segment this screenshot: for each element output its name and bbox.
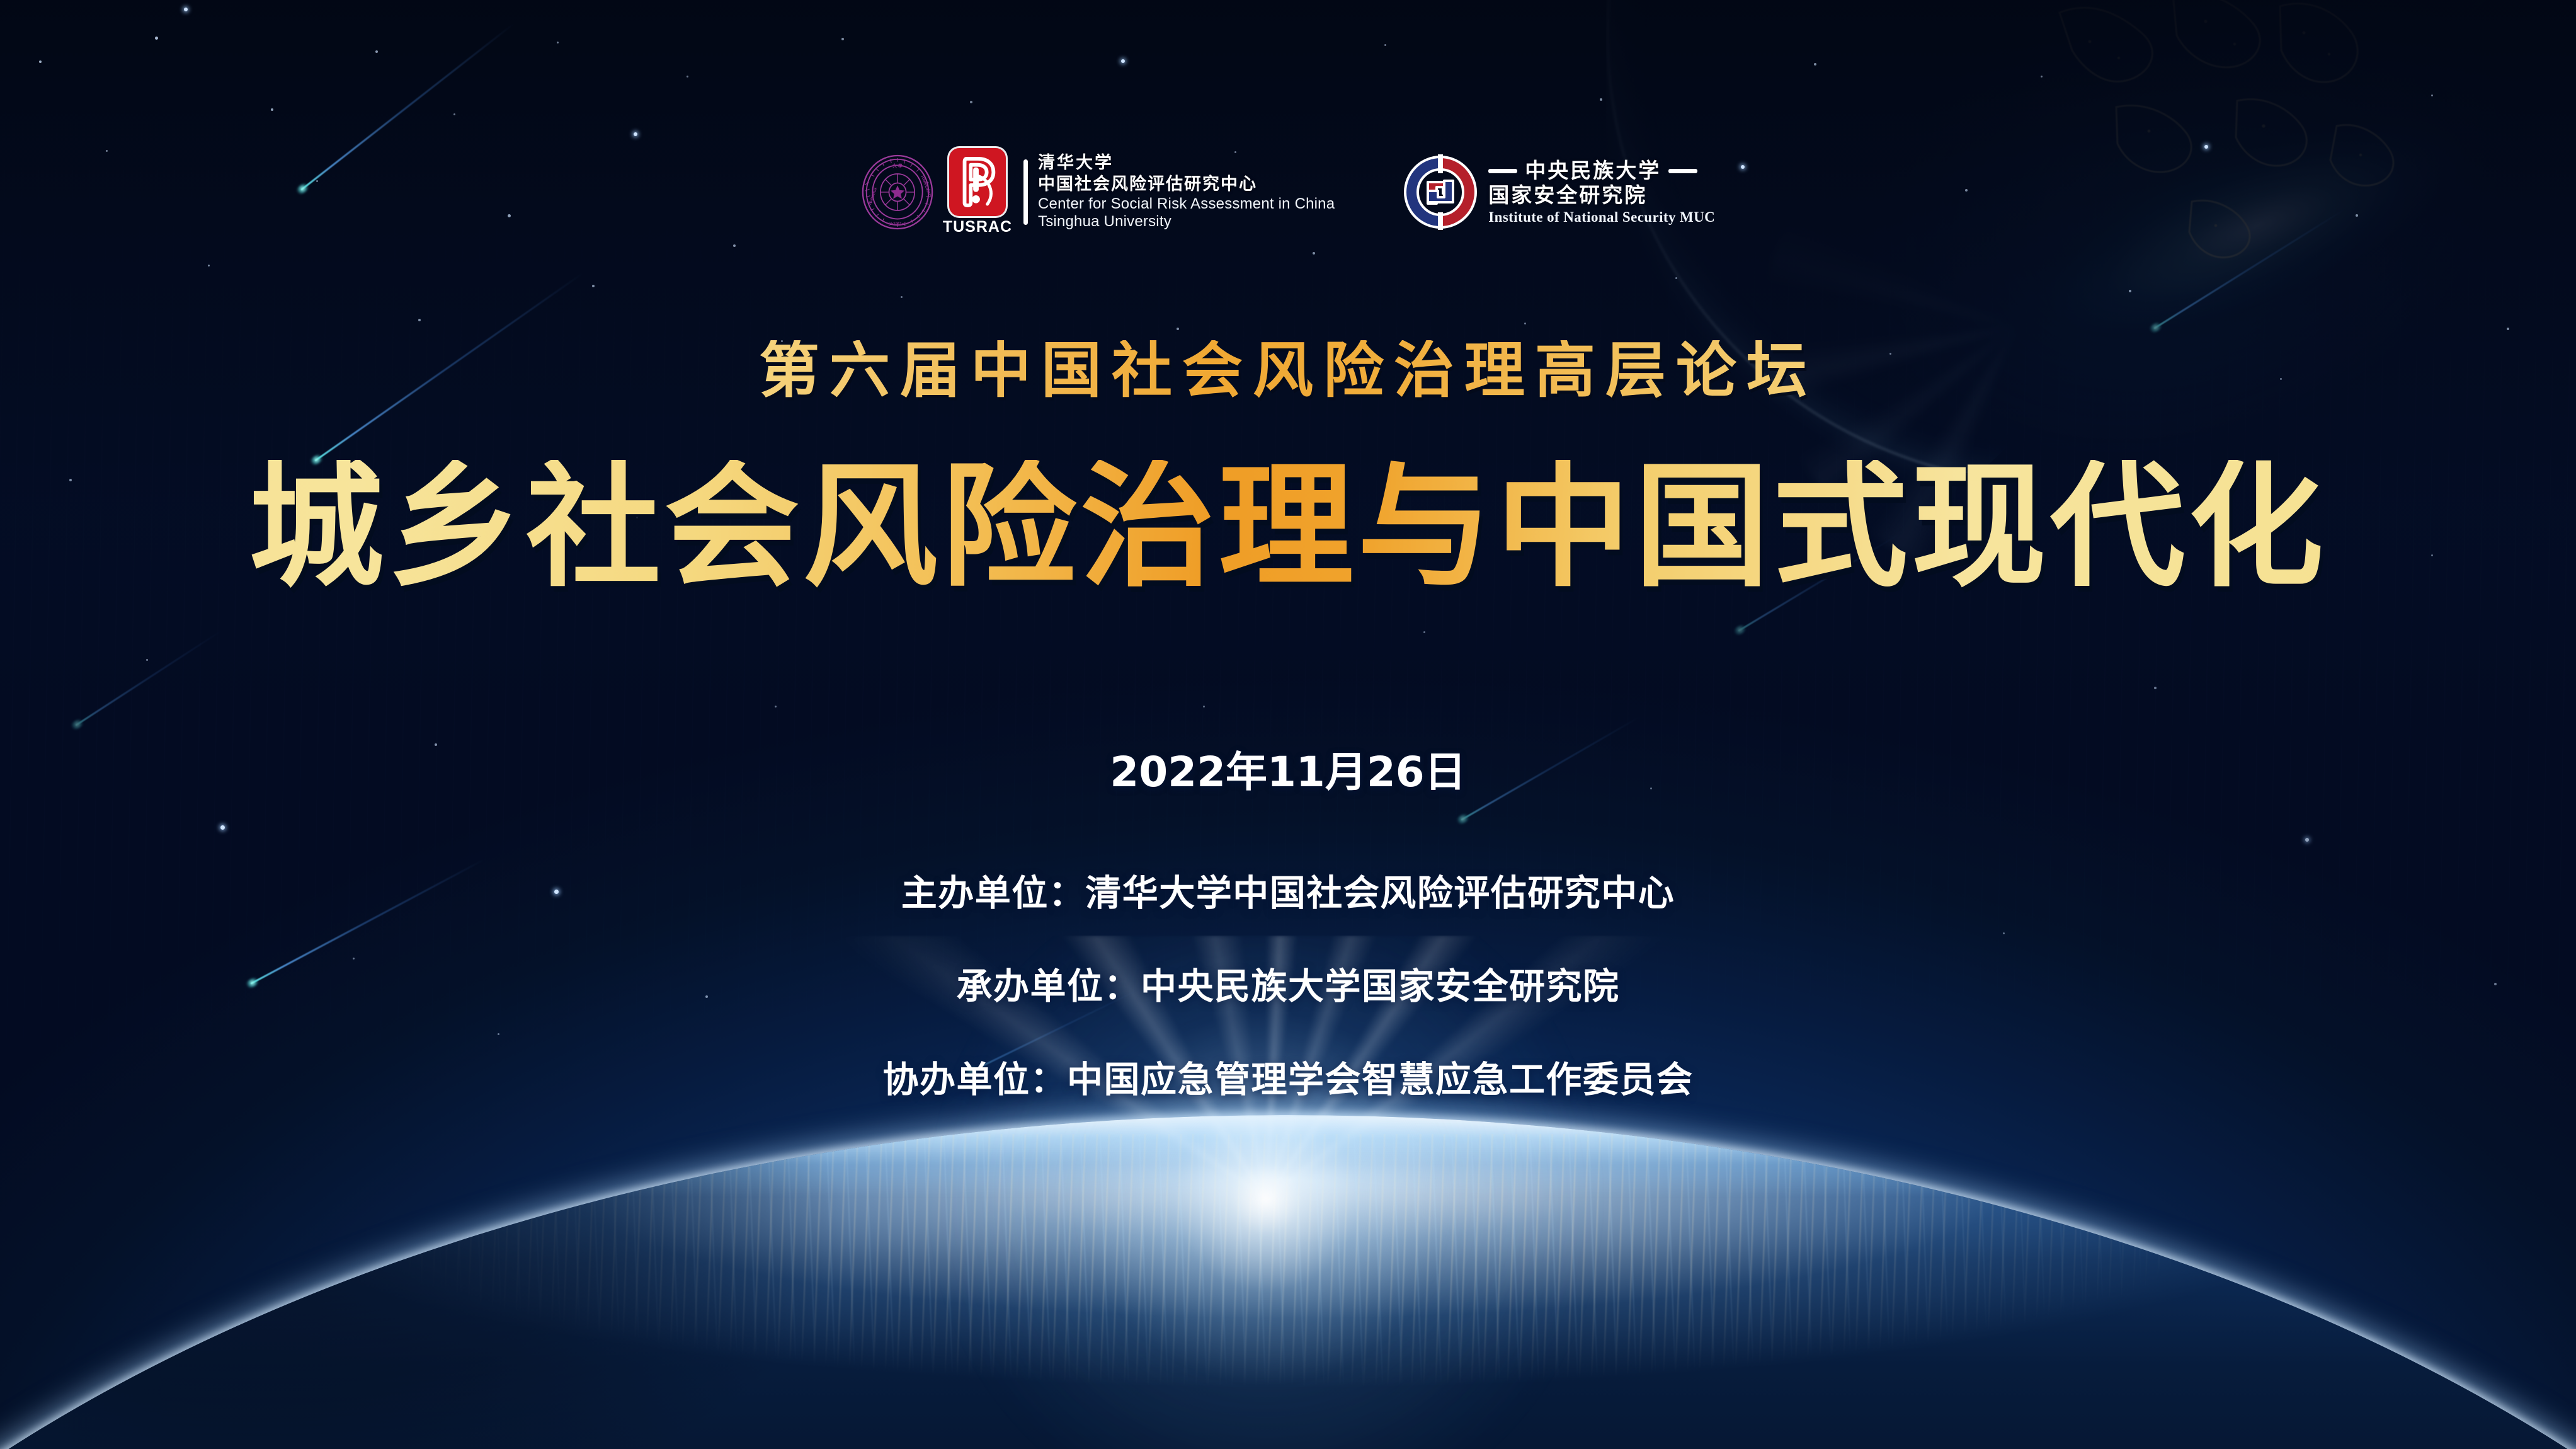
- tusrac-wordmark: TUSRAC: [943, 218, 1012, 236]
- muc-institute-emblem-icon: [1403, 154, 1478, 230]
- center-cn-line-2: 中国社会风险评估研究中心: [1038, 173, 1335, 195]
- muc-cn-line-1: 中央民族大学: [1525, 159, 1661, 183]
- conference-banner: · 大 學 · [ ~1911~ ] TSINGHUA UNIVERSITY: [0, 0, 2576, 1449]
- organizer-name: 中国应急管理学会智慧应急工作委员会: [1067, 1059, 1694, 1101]
- center-name-block: 清华大学 中国社会风险评估研究中心 Center for Social Risk…: [1038, 153, 1335, 231]
- organizer-role: 主办单位：: [901, 873, 1086, 914]
- organizer-role: 承办单位：: [957, 966, 1141, 1007]
- muc-logo-group: 中央民族大学 国家安全研究院 Institute of National Sec…: [1403, 154, 1715, 230]
- event-date: 2022年11月26日: [0, 738, 2576, 799]
- page-title: 城乡社会风险治理与中国式现代化: [0, 460, 2576, 595]
- center-en-line-1: Center for Social Risk Assessment in Chi…: [1038, 195, 1335, 213]
- organizer-list: 主办单位：清华大学中国社会风险评估研究中心 承办单位：中央民族大学国家安全研究院…: [0, 864, 2576, 1102]
- logo-bar: · 大 學 · [ ~1911~ ] TSINGHUA UNIVERSITY: [0, 135, 2576, 249]
- organizer-row: 承办单位：中央民族大学国家安全研究院: [957, 958, 1620, 1009]
- tsinghua-logo-group: · 大 學 · [ ~1911~ ] TSINGHUA UNIVERSITY: [861, 148, 1335, 236]
- svg-text:[ ~1911~ ]: [ ~1911~ ]: [889, 222, 906, 226]
- svg-text:· 大 學 ·: · 大 學 ·: [890, 163, 905, 168]
- organizer-row: 协办单位：中国应急管理学会智慧应急工作委员会: [883, 1051, 1694, 1102]
- forum-subtitle: 第六届中国社会风险治理高层论坛: [0, 340, 2576, 401]
- muc-cn-row-1: 中央民族大学: [1488, 159, 1715, 183]
- muc-cn-line-2: 国家安全研究院: [1488, 183, 1715, 208]
- dash-right-icon: [1668, 169, 1697, 173]
- tsinghua-university-seal-icon: · 大 學 · [ ~1911~ ] TSINGHUA UNIVERSITY: [861, 154, 934, 230]
- organizer-row: 主办单位：清华大学中国社会风险评估研究中心: [901, 864, 1675, 916]
- logo-divider: [1023, 159, 1028, 225]
- muc-en-line: Institute of National Security MUC: [1488, 209, 1715, 226]
- organizer-name: 中央民族大学国家安全研究院: [1141, 966, 1620, 1007]
- dash-left-icon: [1488, 169, 1517, 173]
- muc-name-block: 中央民族大学 国家安全研究院 Institute of National Sec…: [1488, 159, 1715, 226]
- center-cn-line-1: 清华大学: [1038, 153, 1335, 173]
- center-en-line-2: Tsinghua University: [1038, 213, 1335, 231]
- tusrac-r-mark-icon: [949, 148, 1006, 216]
- organizer-role: 协办单位：: [883, 1059, 1068, 1101]
- organizer-name: 清华大学中国社会风险评估研究中心: [1085, 873, 1675, 914]
- tusrac-logo: TUSRAC: [943, 148, 1012, 236]
